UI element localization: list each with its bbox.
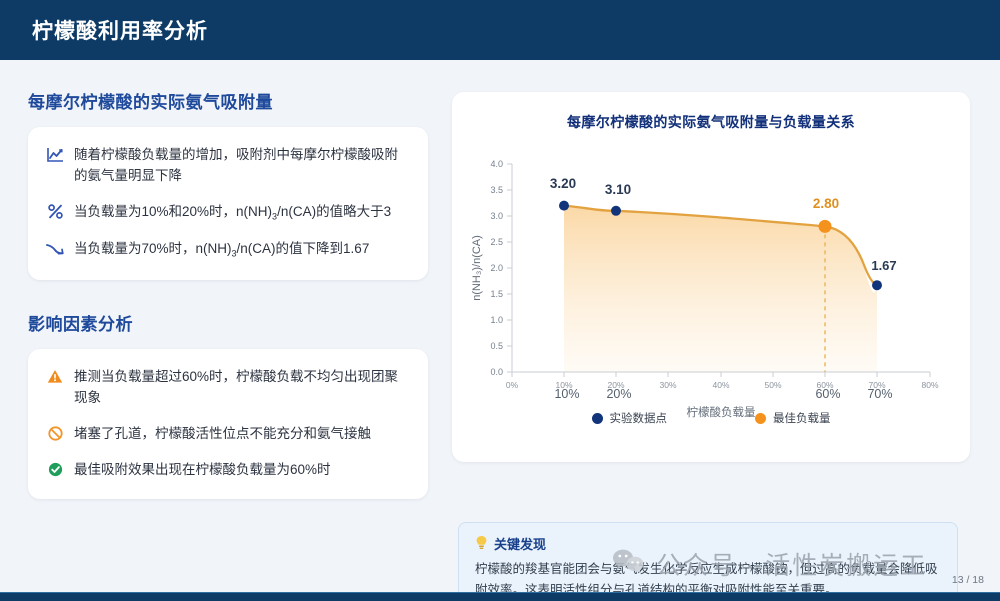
chart-title: 每摩尔柠檬酸的实际氨气吸附量与负载量关系 (452, 92, 970, 132)
legend-label: 实验数据点 (610, 410, 668, 426)
percent-icon (44, 202, 66, 221)
svg-text:3.0: 3.0 (490, 211, 503, 221)
legend-label: 最佳负载量 (773, 410, 831, 426)
svg-text:60%: 60% (815, 387, 840, 401)
left-column: 每摩尔柠檬酸的实际氨气吸附量 随着柠檬酸负载量的增加，吸附剂中每摩尔柠檬酸吸附的… (28, 88, 428, 499)
lightbulb-icon (475, 535, 488, 553)
svg-text:1.5: 1.5 (490, 289, 503, 299)
key-findings-title: 关键发现 (494, 534, 546, 553)
data-point-10 (559, 201, 569, 211)
list-item-text: 堵塞了孔道，柠檬酸活性位点不能充分和氨气接触 (74, 424, 371, 445)
chart-legend: 实验数据点 最佳负载量 (452, 410, 970, 426)
card-adsorption-findings: 随着柠檬酸负载量的增加，吸附剂中每摩尔柠檬酸吸附的氨气量明显下降 当负载量为10… (28, 127, 428, 280)
key-findings-box: 关键发现 柠檬酸的羧基官能团会与氨气发生化学反应生成柠檬酸铵，但过高的负载量会降… (458, 522, 958, 601)
svg-text:30%: 30% (659, 380, 676, 390)
card-factor-analysis: 推测当负载量超过60%时，柠檬酸负载不均匀出现团聚现象 堵塞了孔道，柠檬酸活性位… (28, 349, 428, 499)
legend-item-experimental: 实验数据点 (592, 410, 668, 426)
list-item: 最佳吸附效果出现在柠檬酸负载量为60%时 (44, 460, 410, 481)
data-point-60-highlight (819, 220, 832, 233)
svg-text:1.67: 1.67 (871, 258, 896, 273)
legend-dot-orange (755, 413, 766, 424)
list-item-text: 最佳吸附效果出现在柠檬酸负载量为60%时 (74, 460, 331, 481)
svg-text:3.10: 3.10 (605, 182, 631, 197)
chart-line-icon (44, 145, 66, 164)
list-item: 随着柠檬酸负载量的增加，吸附剂中每摩尔柠檬酸吸附的氨气量明显下降 (44, 145, 410, 187)
slide-header: 柠檬酸利用率分析 (0, 0, 1000, 60)
list-item-text: 随着柠檬酸负载量的增加，吸附剂中每摩尔柠檬酸吸附的氨气量明显下降 (74, 145, 410, 187)
page-number: 13 / 18 (952, 574, 984, 586)
svg-text:3.20: 3.20 (550, 176, 576, 191)
list-item-text: 当负载量为70%时，n(NH)3/n(CA)的值下降到1.67 (74, 239, 369, 262)
legend-dot-navy (592, 413, 603, 424)
section-heading-factors: 影响因素分析 (28, 310, 428, 335)
list-item: 推测当负载量超过60%时，柠檬酸负载不均匀出现团聚现象 (44, 367, 410, 409)
page-title: 柠檬酸利用率分析 (32, 15, 208, 45)
footer-bar (0, 592, 1000, 601)
list-item-text: 推测当负载量超过60%时，柠檬酸负载不均匀出现团聚现象 (74, 367, 410, 409)
svg-text:50%: 50% (764, 380, 781, 390)
svg-text:2.5: 2.5 (490, 237, 503, 247)
svg-text:2.0: 2.0 (490, 263, 503, 273)
section-heading-adsorption: 每摩尔柠檬酸的实际氨气吸附量 (28, 88, 428, 113)
chart-card: 每摩尔柠檬酸的实际氨气吸附量与负载量关系 4.0 (452, 92, 970, 462)
svg-text:0.5: 0.5 (490, 341, 503, 351)
svg-text:0%: 0% (506, 380, 519, 390)
svg-text:0.0: 0.0 (490, 367, 503, 377)
svg-text:80%: 80% (921, 380, 938, 390)
legend-item-optimal: 最佳负载量 (755, 410, 831, 426)
line-chart-svg: 4.0 3.5 3.0 2.5 2.0 1.5 1.0 0.5 0.0 0% 1… (452, 132, 970, 432)
svg-text:20%: 20% (606, 387, 631, 401)
data-point-70 (872, 280, 882, 290)
slide: 柠檬酸利用率分析 每摩尔柠檬酸的实际氨气吸附量 随着柠檬酸负载量的增加，吸附剂中… (0, 0, 1000, 601)
slide-body: 每摩尔柠檬酸的实际氨气吸附量 随着柠檬酸负载量的增加，吸附剂中每摩尔柠檬酸吸附的… (0, 60, 1000, 585)
y-axis-label: n(NH₃)/n(CA) (471, 235, 483, 301)
svg-text:3.5: 3.5 (490, 185, 503, 195)
list-item-text: 当负载量为10%和20%时，n(NH)3/n(CA)的值略大于3 (74, 202, 391, 225)
warning-triangle-icon (44, 367, 66, 386)
list-item: 堵塞了孔道，柠檬酸活性位点不能充分和氨气接触 (44, 424, 410, 445)
key-findings-header: 关键发现 (475, 534, 941, 553)
svg-text:1.0: 1.0 (490, 315, 503, 325)
svg-text:10%: 10% (554, 387, 579, 401)
check-circle-icon (44, 460, 66, 479)
svg-text:2.80: 2.80 (813, 196, 839, 211)
svg-text:70%: 70% (867, 387, 892, 401)
list-item: 当负载量为10%和20%时，n(NH)3/n(CA)的值略大于3 (44, 202, 410, 225)
svg-text:40%: 40% (712, 380, 729, 390)
chart-plot-area: 4.0 3.5 3.0 2.5 2.0 1.5 1.0 0.5 0.0 0% 1… (452, 132, 970, 432)
column-spacer (28, 280, 428, 310)
trending-down-icon (44, 239, 66, 258)
list-item: 当负载量为70%时，n(NH)3/n(CA)的值下降到1.67 (44, 239, 410, 262)
prohibition-icon (44, 424, 66, 443)
data-point-20 (611, 206, 621, 216)
svg-text:4.0: 4.0 (490, 159, 503, 169)
